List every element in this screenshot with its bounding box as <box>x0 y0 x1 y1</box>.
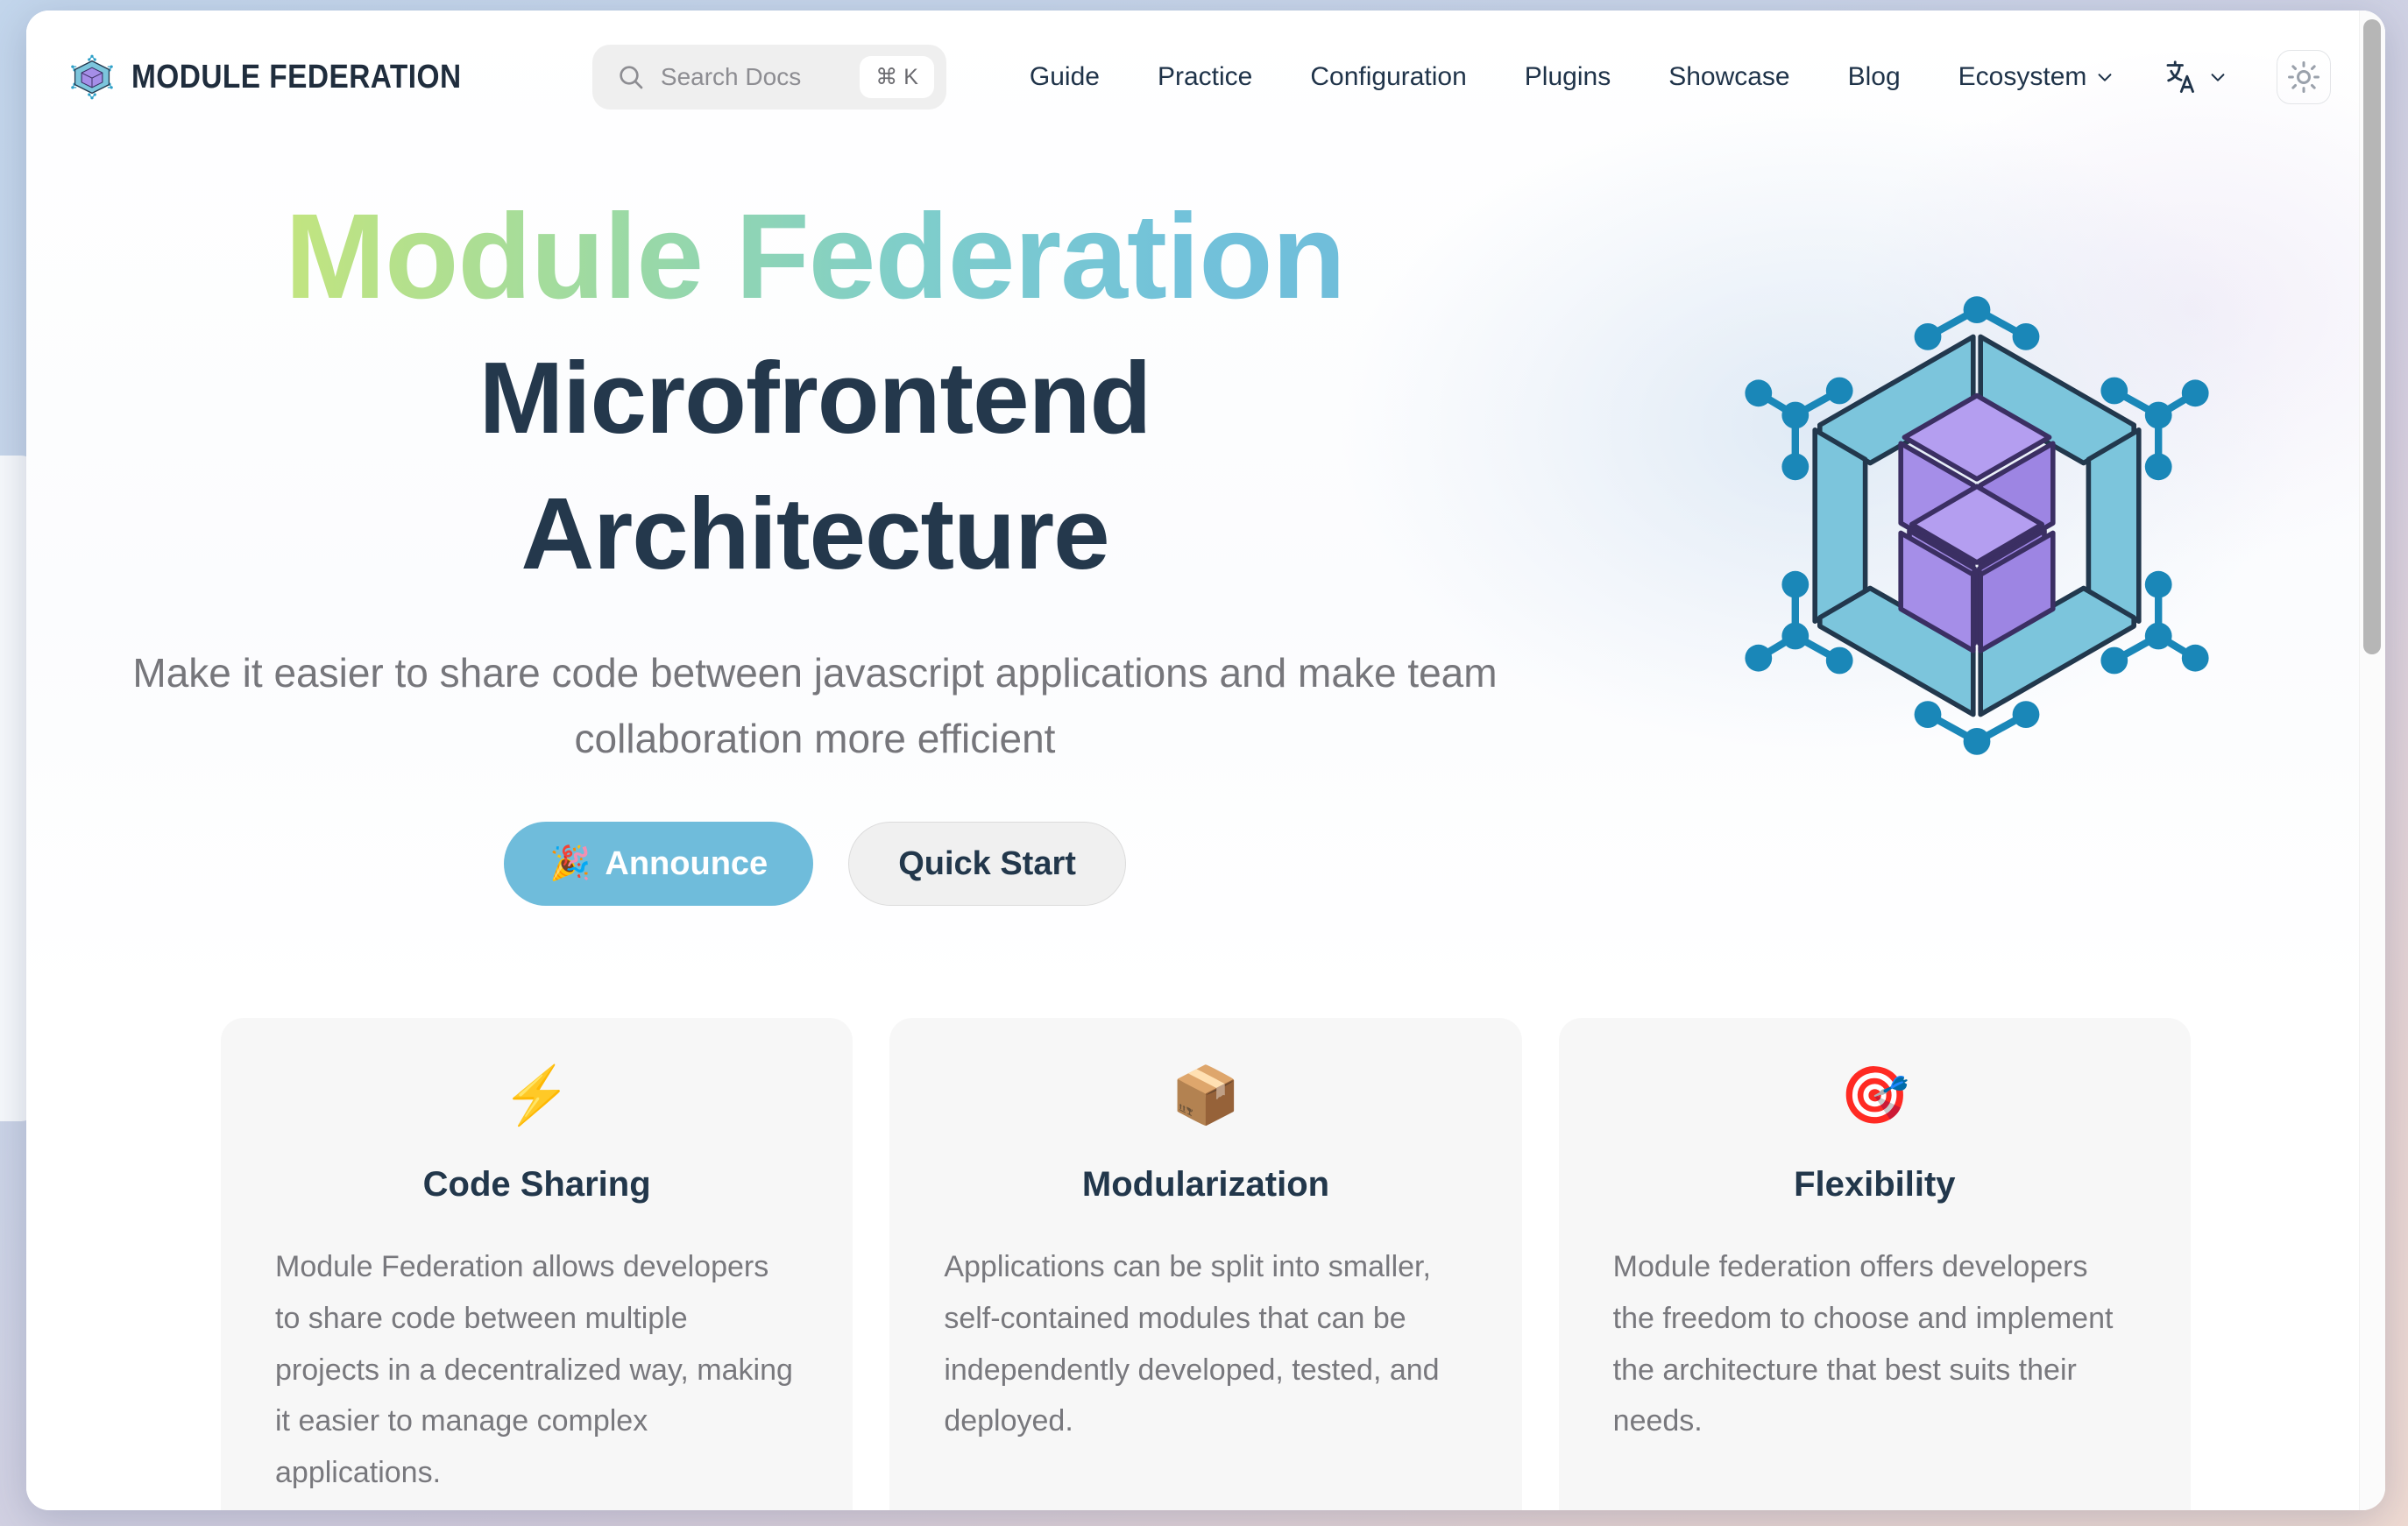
translate-icon <box>2163 59 2199 95</box>
page-content: MODULE FEDERATION Search Docs ⌘ K Guide … <box>26 11 2385 1510</box>
nav-link-configuration[interactable]: Configuration <box>1281 62 1495 92</box>
hero-action-buttons: 🎉 Announce Quick Start <box>61 822 1569 906</box>
brand-logo-link[interactable]: MODULE FEDERATION <box>68 53 506 101</box>
nav-tools-group <box>2143 50 2385 104</box>
nav-link-guide[interactable]: Guide <box>1001 62 1129 92</box>
feature-description: Module federation offers developers the … <box>1613 1241 2136 1447</box>
feature-title: Modularization <box>944 1165 1467 1205</box>
lightning-bolt-icon: ⚡ <box>275 1067 798 1128</box>
hero-section: Module Federation Microfrontend Architec… <box>26 144 2385 1002</box>
quick-start-button[interactable]: Quick Start <box>848 822 1126 906</box>
nav-link-blog[interactable]: Blog <box>1819 62 1930 92</box>
search-input[interactable]: Search Docs ⌘ K <box>592 45 946 110</box>
browser-window: MODULE FEDERATION Search Docs ⌘ K Guide … <box>26 11 2385 1510</box>
quick-start-button-label: Quick Start <box>898 845 1076 883</box>
feature-description: Module Federation allows developers to s… <box>275 1241 798 1499</box>
module-federation-cube-logo-icon <box>68 53 116 101</box>
announce-button-label: Announce <box>605 845 768 883</box>
nav-link-label: Plugins <box>1525 62 1611 92</box>
nav-link-label: Configuration <box>1310 62 1466 92</box>
brand-name-text: MODULE FEDERATION <box>131 59 462 96</box>
desktop-background: MODULE FEDERATION Search Docs ⌘ K Guide … <box>0 0 2408 1526</box>
sun-icon <box>2287 60 2320 94</box>
nav-link-showcase[interactable]: Showcase <box>1640 62 1818 92</box>
hero-subtitle: Microfrontend Architecture <box>61 330 1569 603</box>
nav-link-label: Ecosystem <box>1958 62 2087 92</box>
search-placeholder-text: Search Docs <box>661 63 860 91</box>
package-box-icon: 📦 <box>944 1067 1467 1128</box>
nav-link-label: Showcase <box>1668 62 1789 92</box>
hero-text-block: Module Federation Microfrontend Architec… <box>26 189 1569 906</box>
nav-link-practice[interactable]: Practice <box>1129 62 1281 92</box>
chevron-down-icon <box>2208 67 2227 87</box>
nav-link-label: Practice <box>1158 62 1252 92</box>
search-shortcut-badge: ⌘ K <box>860 56 934 98</box>
nav-link-label: Blog <box>1848 62 1901 92</box>
features-section: ⚡ Code Sharing Module Federation allows … <box>26 1018 2385 1510</box>
theme-toggle-button[interactable] <box>2277 50 2331 104</box>
feature-card-flexibility: 🎯 Flexibility Module federation offers d… <box>1559 1018 2191 1510</box>
nav-link-plugins[interactable]: Plugins <box>1496 62 1640 92</box>
scrollbar-thumb[interactable] <box>2363 19 2381 654</box>
language-switcher-button[interactable] <box>2143 59 2247 95</box>
hero-description: Make it easier to share code between jav… <box>96 640 1533 771</box>
navigation-bar: MODULE FEDERATION Search Docs ⌘ K Guide … <box>26 11 2385 144</box>
feature-description: Applications can be split into smaller, … <box>944 1241 1467 1447</box>
page-scrollbar[interactable] <box>2359 11 2385 1510</box>
hero-subtitle-line-2: Architecture <box>61 466 1569 602</box>
isometric-module-federation-cube-icon <box>1732 280 2222 771</box>
nav-link-label: Guide <box>1030 62 1100 92</box>
announce-button[interactable]: 🎉 Announce <box>504 822 813 906</box>
party-popper-icon: 🎉 <box>549 844 591 883</box>
feature-card-code-sharing: ⚡ Code Sharing Module Federation allows … <box>221 1018 853 1510</box>
feature-card-modularization: 📦 Modularization Applications can be spl… <box>889 1018 1521 1510</box>
search-icon <box>617 63 645 91</box>
chevron-down-icon <box>2095 67 2114 87</box>
page-title: Module Federation <box>61 189 1569 325</box>
feature-title: Flexibility <box>1613 1165 2136 1205</box>
nav-links-group: Guide Practice Configuration Plugins Sho… <box>1001 62 2143 92</box>
bullseye-target-icon: 🎯 <box>1613 1067 2136 1128</box>
nav-link-ecosystem[interactable]: Ecosystem <box>1930 62 2144 92</box>
hero-artwork <box>1569 189 2385 771</box>
hero-subtitle-line-1: Microfrontend <box>61 330 1569 466</box>
feature-title: Code Sharing <box>275 1165 798 1205</box>
